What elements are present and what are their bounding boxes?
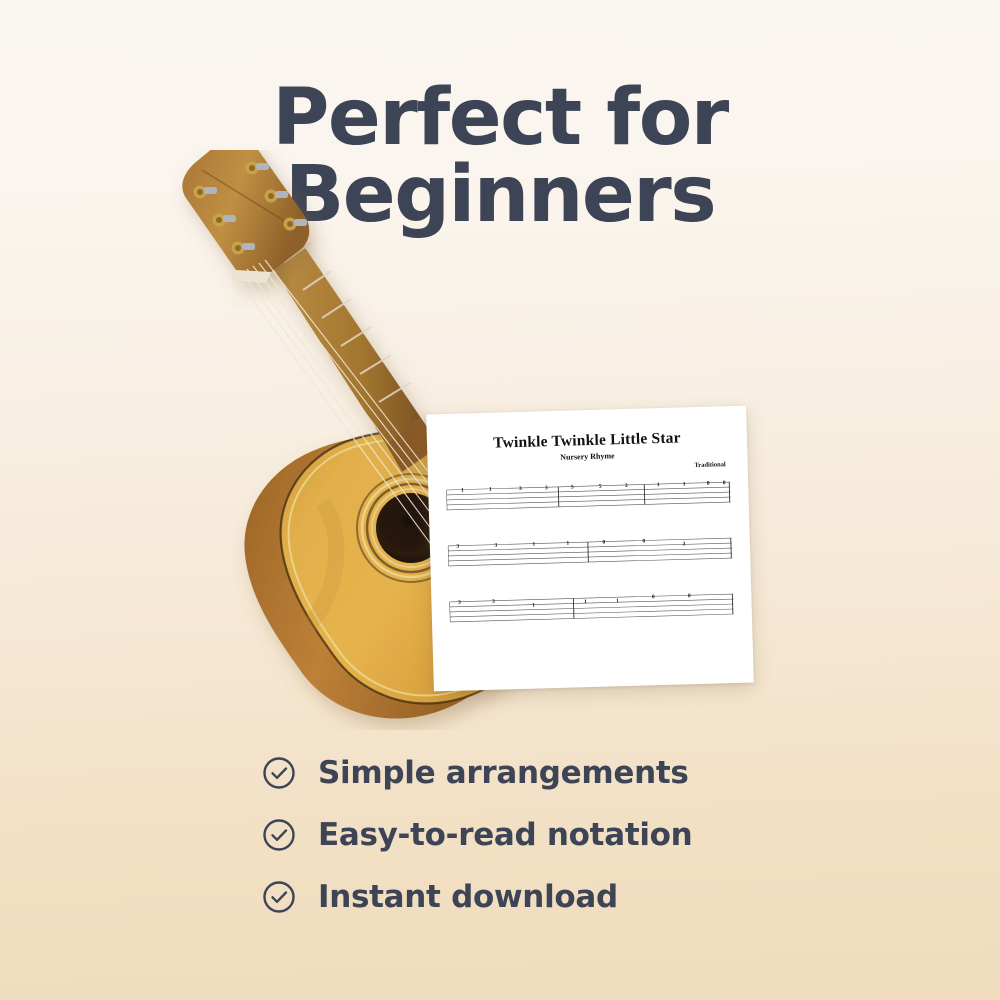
svg-text:5: 5: [599, 484, 602, 490]
feature-list: Simple arrangements Easy-to-read notatio…: [262, 745, 782, 931]
svg-text:1: 1: [657, 482, 660, 488]
sheet-music-page: Twinkle Twinkle Little Star Nursery Rhym…: [426, 406, 754, 692]
headline-line-1: Perfect for: [0, 80, 1000, 157]
svg-text:1: 1: [566, 541, 569, 547]
list-item: Simple arrangements: [262, 745, 782, 801]
svg-text:1: 1: [489, 487, 492, 493]
svg-text:3: 3: [545, 485, 548, 491]
svg-text:3: 3: [458, 600, 461, 606]
feature-label: Easy-to-read notation: [318, 817, 692, 853]
svg-text:0: 0: [723, 480, 726, 486]
svg-text:3: 3: [492, 599, 495, 605]
svg-text:0: 0: [652, 594, 655, 600]
svg-text:1: 1: [683, 481, 686, 487]
feature-label: Simple arrangements: [318, 755, 689, 791]
svg-text:1: 1: [461, 487, 464, 493]
svg-text:3: 3: [494, 543, 497, 549]
svg-text:0: 0: [642, 538, 645, 544]
check-circle-icon: [262, 818, 296, 852]
tab-staff: 3 3 1 1 0 0 3: [448, 534, 733, 572]
svg-text:1: 1: [584, 599, 587, 605]
list-item: Easy-to-read notation: [262, 807, 782, 863]
poster-canvas: Perfect for Beginners: [0, 0, 1000, 1000]
svg-text:3: 3: [519, 486, 522, 492]
svg-text:3: 3: [456, 544, 459, 550]
svg-text:1: 1: [532, 542, 535, 548]
svg-text:0: 0: [688, 593, 691, 599]
list-item: Instant download: [262, 869, 782, 925]
check-circle-icon: [262, 880, 296, 914]
svg-text:0: 0: [602, 540, 605, 546]
svg-text:1: 1: [616, 598, 619, 604]
tab-staff-list: 1 1 3 3 5 5 3 1 1 0 0: [446, 478, 734, 628]
svg-text:1: 1: [532, 603, 535, 609]
svg-text:5: 5: [571, 484, 574, 490]
tab-staff: 1 1 3 3 5 5 3 1 1 0 0: [446, 478, 731, 516]
svg-text:3: 3: [625, 483, 628, 489]
svg-text:0: 0: [707, 481, 710, 487]
svg-text:3: 3: [682, 541, 685, 547]
check-circle-icon: [262, 756, 296, 790]
feature-label: Instant download: [318, 879, 618, 915]
tab-staff: 3 3 1 1 1 0 0: [449, 590, 734, 628]
